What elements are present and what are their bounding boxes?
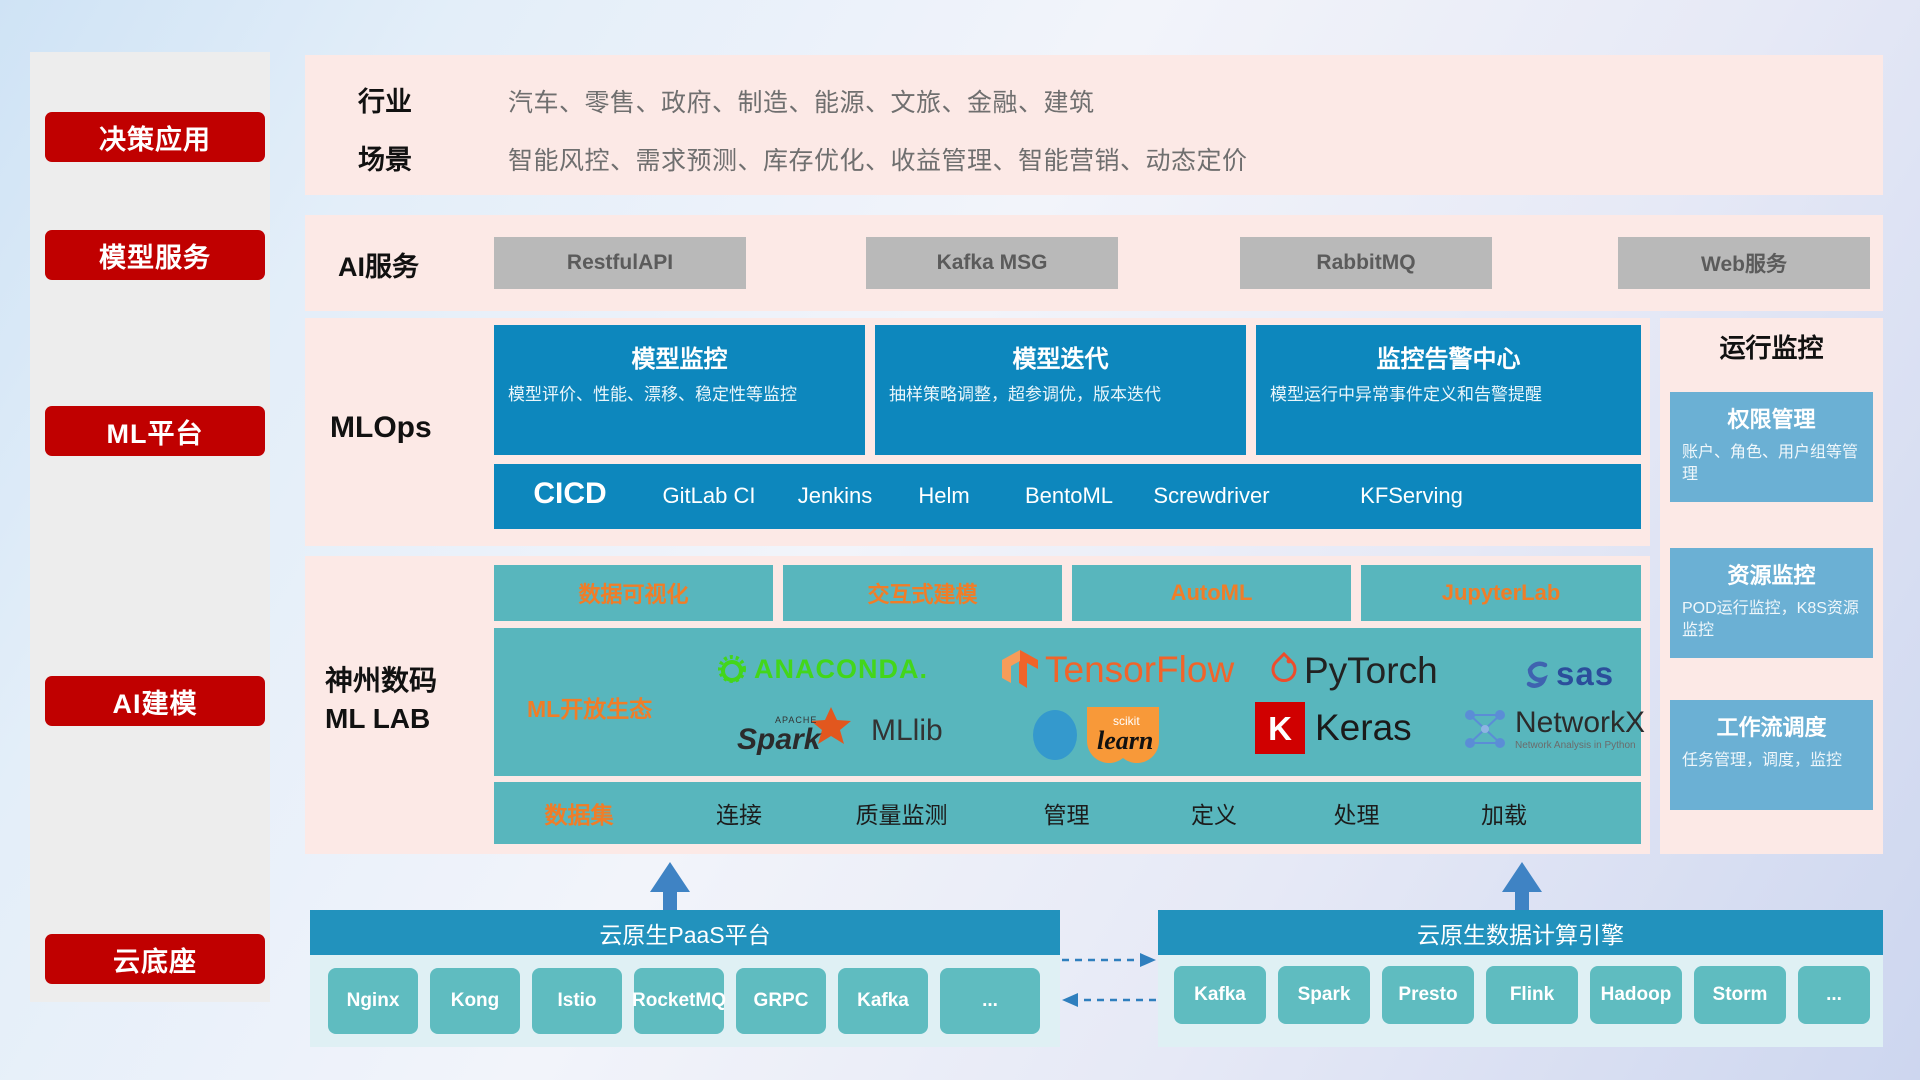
industry-value: 汽车、零售、政府、制造、能源、文旅、金融、建筑	[508, 83, 1095, 119]
paas-pill-rocketmq[interactable]: RocketMQ	[634, 968, 724, 1034]
svg-text:learn: learn	[1097, 726, 1153, 755]
layer-label-text: AI建模	[113, 682, 198, 721]
sas-logo-text: sas	[1556, 655, 1614, 693]
mlops-card-model-monitor[interactable]: 模型监控 模型评价、性能、漂移、稳定性等监控	[494, 325, 865, 455]
card-title: 权限管理	[1670, 402, 1873, 434]
tensorflow-logo-text: TensorFlow	[1045, 649, 1234, 691]
anaconda-logo-text: ANACONDA.	[754, 654, 928, 685]
monitoring-title: 运行监控	[1660, 328, 1883, 365]
card-title: 工作流调度	[1670, 710, 1873, 742]
dataset-item-quality[interactable]: 质量监测	[814, 796, 989, 830]
engine-pill-hadoop[interactable]: Hadoop	[1590, 966, 1682, 1024]
paas-title: 云原生PaaS平台	[310, 910, 1060, 955]
card-title: 模型迭代	[875, 339, 1246, 374]
cicd-item-jenkins[interactable]: Jenkins	[794, 484, 876, 507]
svg-text:Spark: Spark	[737, 723, 822, 756]
tool-automl[interactable]: AutoML	[1072, 565, 1351, 621]
layer-label-ai-modeling[interactable]: AI建模	[45, 676, 265, 726]
card-desc: 账户、角色、用户组等管理	[1682, 442, 1861, 485]
keras-logo: K Keras	[1255, 702, 1412, 754]
mlops-card-model-iteration[interactable]: 模型迭代 抽样策略调整，超参调优，版本迭代	[875, 325, 1246, 455]
paas-pill-kong[interactable]: Kong	[430, 968, 520, 1034]
anaconda-logo: ANACONDA.	[715, 652, 928, 686]
tensorflow-logo: TensorFlow	[1000, 648, 1234, 692]
layer-label-text: ML平台	[107, 412, 204, 451]
ml-lab-label-line2: ML LAB	[325, 700, 500, 738]
paas-pill-nginx[interactable]: Nginx	[328, 968, 418, 1034]
mllib-logo-text: MLlib	[871, 714, 943, 748]
tool-jupyterlab[interactable]: JupyterLab	[1361, 565, 1641, 621]
cicd-item-bentoml[interactable]: BentoML	[1014, 484, 1124, 507]
monitoring-card-resources[interactable]: 资源监控 POD运行监控，K8S资源监控	[1670, 548, 1873, 658]
networkx-logo-text: NetworkX	[1515, 708, 1645, 738]
cicd-item-screwdriver[interactable]: Screwdriver	[1144, 484, 1279, 507]
spark-mllib-logo: APACHE Spark MLlib	[735, 705, 943, 757]
ai-service-label: AI服务	[338, 240, 508, 288]
engine-pill-presto[interactable]: Presto	[1382, 966, 1474, 1024]
card-title: 资源监控	[1670, 558, 1873, 590]
paas-pill-kafka[interactable]: Kafka	[838, 968, 928, 1034]
card-desc: 模型运行中异常事件定义和告警提醒	[1270, 384, 1627, 407]
data-engine-title: 云原生数据计算引擎	[1158, 910, 1883, 955]
arrow-head-left	[1062, 993, 1078, 1007]
mlops-card-alert-center[interactable]: 监控告警中心 模型运行中异常事件定义和告警提醒	[1256, 325, 1641, 455]
networkx-logo-subtext: Network Analysis in Python	[1515, 741, 1645, 751]
ml-lab-label: 神州数码 ML LAB	[325, 662, 500, 742]
card-desc: 任务管理，调度，监控	[1682, 750, 1861, 772]
dataset-item-manage[interactable]: 管理	[989, 796, 1144, 830]
layer-label-ml-platform[interactable]: ML平台	[45, 406, 265, 456]
ml-lab-label-line1: 神州数码	[325, 662, 500, 700]
ai-service-chip-web-service[interactable]: Web服务	[1618, 237, 1870, 289]
scene-value: 智能风控、需求预测、库存优化、收益管理、智能营销、动态定价	[508, 141, 1248, 177]
cicd-item-helm[interactable]: Helm	[894, 484, 994, 507]
paas-pill-more[interactable]: ...	[940, 968, 1040, 1034]
dataset-caption: 数据集	[494, 796, 664, 830]
keras-logo-text: Keras	[1315, 707, 1412, 749]
dataset-item-define[interactable]: 定义	[1144, 796, 1284, 830]
pytorch-logo-text: PyTorch	[1304, 650, 1438, 692]
card-desc: 模型评价、性能、漂移、稳定性等监控	[508, 384, 851, 407]
dataset-item-connect[interactable]: 连接	[664, 796, 814, 830]
cicd-item-gitlab-ci[interactable]: GitLab CI	[644, 484, 774, 507]
ml-open-ecosystem-caption: ML开放生态	[527, 690, 652, 724]
card-title: 监控告警中心	[1256, 339, 1641, 374]
engine-pill-more[interactable]: ...	[1798, 966, 1870, 1024]
left-label-column	[30, 52, 270, 1002]
architecture-diagram: 决策应用 模型服务 ML平台 AI建模 云底座 行业 汽车、零售、政府、制造、能…	[0, 0, 1920, 1080]
engine-pill-spark[interactable]: Spark	[1278, 966, 1370, 1024]
layer-label-text: 决策应用	[99, 118, 211, 157]
scene-key: 场景	[358, 138, 412, 177]
card-desc: POD运行监控，K8S资源监控	[1682, 598, 1861, 641]
cicd-bar[interactable]: CICD GitLab CI Jenkins Helm BentoML Scre…	[494, 464, 1641, 529]
arrow-head-right	[1140, 953, 1156, 967]
monitoring-card-workflow[interactable]: 工作流调度 任务管理，调度，监控	[1670, 700, 1873, 810]
layer-label-cloud-base[interactable]: 云底座	[45, 934, 265, 984]
dataset-row: 数据集 连接 质量监测 管理 定义 处理 加载	[494, 782, 1641, 844]
scikit-learn-logo: scikit learn	[1025, 705, 1185, 763]
industry-key: 行业	[358, 80, 412, 119]
engine-pill-kafka[interactable]: Kafka	[1174, 966, 1266, 1024]
tool-interactive-modeling[interactable]: 交互式建模	[783, 565, 1062, 621]
paas-pill-grpc[interactable]: GRPC	[736, 968, 826, 1034]
cicd-item-kfserving[interactable]: KFServing	[1349, 484, 1474, 507]
engine-pill-flink[interactable]: Flink	[1486, 966, 1578, 1024]
layer-label-decision[interactable]: 决策应用	[45, 112, 265, 162]
pytorch-logo: PyTorch	[1268, 650, 1438, 692]
monitoring-card-permissions[interactable]: 权限管理 账户、角色、用户组等管理	[1670, 392, 1873, 502]
dataset-item-process[interactable]: 处理	[1284, 796, 1429, 830]
tool-data-visualization[interactable]: 数据可视化	[494, 565, 773, 621]
ai-service-chip-restfulapi[interactable]: RestfulAPI	[494, 237, 746, 289]
layer-label-text: 云底座	[113, 940, 197, 979]
layer-label-model-service[interactable]: 模型服务	[45, 230, 265, 280]
engine-pill-storm[interactable]: Storm	[1694, 966, 1786, 1024]
ai-service-chip-kafka-msg[interactable]: Kafka MSG	[866, 237, 1118, 289]
svg-text:K: K	[1268, 710, 1292, 747]
ai-service-chip-rabbitmq[interactable]: RabbitMQ	[1240, 237, 1492, 289]
networkx-logo: NetworkX Network Analysis in Python	[1460, 705, 1645, 753]
sas-logo: sas	[1520, 655, 1614, 693]
paas-pill-istio[interactable]: Istio	[532, 968, 622, 1034]
card-title: 模型监控	[494, 339, 865, 374]
layer-label-text: 模型服务	[99, 236, 211, 275]
dataset-item-load[interactable]: 加载	[1429, 796, 1579, 830]
mlops-label: MLOps	[330, 404, 500, 452]
cicd-main-label: CICD	[510, 478, 630, 510]
card-desc: 抽样策略调整，超参调优，版本迭代	[889, 384, 1232, 407]
